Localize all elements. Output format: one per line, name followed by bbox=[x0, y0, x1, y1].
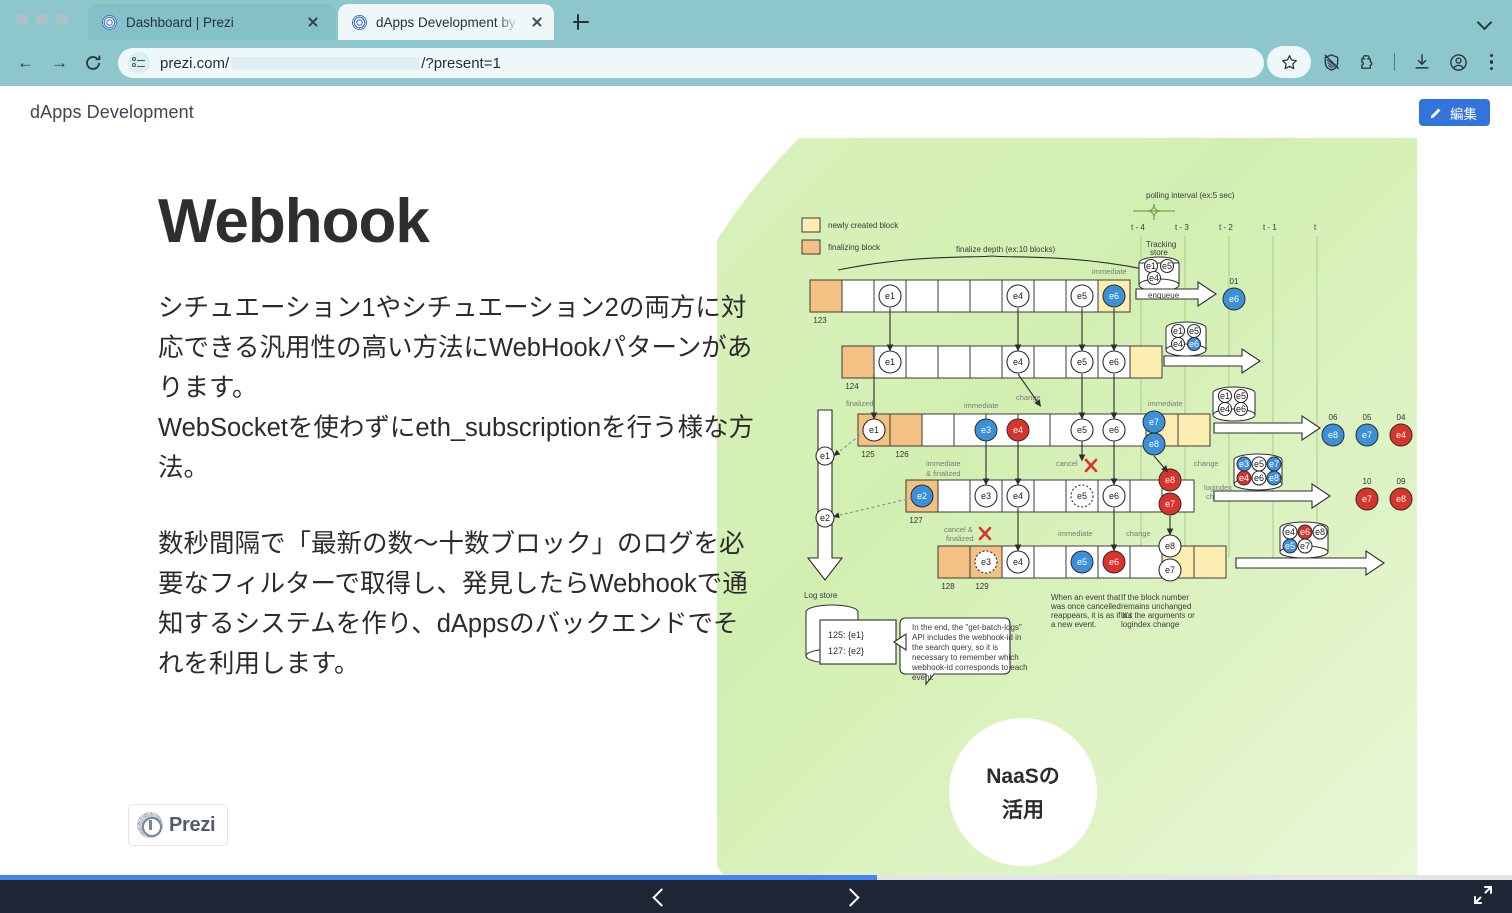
reload-button[interactable] bbox=[76, 46, 110, 80]
edit-button[interactable]: 編集 bbox=[1419, 99, 1490, 126]
svg-text:e6: e6 bbox=[1236, 404, 1246, 414]
svg-text:e1: e1 bbox=[885, 357, 895, 367]
close-tab-icon[interactable] bbox=[304, 13, 322, 31]
prezi-logo-icon bbox=[137, 812, 163, 838]
svg-text:newly created block: newly created block bbox=[828, 221, 899, 230]
svg-text:e5: e5 bbox=[1077, 291, 1087, 301]
svg-text:e8: e8 bbox=[1165, 541, 1175, 551]
tab-title: dApps Development by Hiden bbox=[376, 15, 519, 30]
svg-text:e3: e3 bbox=[1239, 459, 1249, 469]
svg-text:store: store bbox=[1150, 248, 1168, 257]
tab-dashboard-prezi[interactable]: Dashboard | Prezi bbox=[88, 4, 336, 40]
svg-text:finalized: finalized bbox=[846, 399, 874, 408]
svg-text:e8: e8 bbox=[1165, 475, 1175, 485]
svg-text:event.: event. bbox=[912, 673, 934, 682]
close-window-button[interactable] bbox=[16, 13, 28, 25]
svg-text:e1: e1 bbox=[820, 451, 830, 461]
svg-text:10: 10 bbox=[1363, 477, 1372, 486]
browser-chrome: Dashboard | Prezi dApps Development by H… bbox=[0, 0, 1512, 86]
profile-avatar-icon[interactable] bbox=[1442, 46, 1474, 78]
new-tab-button[interactable] bbox=[570, 11, 592, 33]
svg-text:e5: e5 bbox=[1077, 491, 1087, 501]
svg-text:e5: e5 bbox=[1236, 391, 1246, 401]
svg-text:124: 124 bbox=[845, 382, 859, 391]
svg-text:e5: e5 bbox=[1162, 261, 1172, 271]
svg-text:e4: e4 bbox=[1220, 404, 1230, 414]
svg-text:e5: e5 bbox=[1077, 425, 1087, 435]
svg-text:immediate: immediate bbox=[1148, 399, 1183, 408]
svg-text:immediate: immediate bbox=[1092, 267, 1127, 276]
slide-paragraph-2: 数秒間隔で「最新の数〜十数ブロック」のログを必要なフィルターで取得し、発見したら… bbox=[158, 524, 758, 684]
svg-text:immediate: immediate bbox=[1058, 529, 1093, 538]
svg-text:cancel &: cancel & bbox=[944, 525, 973, 534]
svg-text:was once cancelled: was once cancelled bbox=[1050, 602, 1121, 611]
svg-text:e3: e3 bbox=[981, 491, 991, 501]
presentation-player-bar bbox=[0, 880, 1512, 913]
svg-text:If the block number: If the block number bbox=[1121, 593, 1189, 602]
svg-text:e1: e1 bbox=[1146, 261, 1156, 271]
svg-text:125: {e1}: 125: {e1} bbox=[828, 630, 864, 640]
svg-text:e7: e7 bbox=[1165, 499, 1175, 509]
svg-text:e5: e5 bbox=[1189, 326, 1199, 336]
expand-fullscreen-icon[interactable] bbox=[1472, 884, 1498, 910]
previous-slide-button[interactable] bbox=[642, 884, 676, 910]
svg-text:e6: e6 bbox=[1109, 491, 1119, 501]
svg-text:126: 126 bbox=[895, 450, 909, 459]
svg-text:webhook-id corresponds to each: webhook-id corresponds to each bbox=[911, 663, 1028, 672]
svg-text:e8: e8 bbox=[1396, 494, 1406, 504]
svg-text:e4: e4 bbox=[1013, 425, 1023, 435]
chevron-down-icon[interactable] bbox=[1472, 8, 1498, 32]
svg-text:but the arguments or: but the arguments or bbox=[1121, 611, 1195, 620]
svg-text:09: 09 bbox=[1397, 477, 1406, 486]
address-bar[interactable]: prezi.com/ /?present=1 bbox=[118, 48, 1264, 78]
naas-label-line1: NaaSの bbox=[986, 760, 1060, 790]
svg-text:t - 4: t - 4 bbox=[1131, 223, 1145, 232]
svg-text:128: 128 bbox=[941, 582, 955, 591]
diagram-svg: .bx{fill:#fff;stroke:#3b3b3b;stroke-widt… bbox=[796, 188, 1417, 688]
prezi-favicon-icon bbox=[102, 15, 117, 30]
svg-text:t - 3: t - 3 bbox=[1175, 223, 1189, 232]
url-suffix: /?present=1 bbox=[421, 55, 501, 72]
svg-text:e3: e3 bbox=[981, 557, 991, 567]
svg-text:t: t bbox=[1314, 223, 1317, 232]
naas-label-line2: 活用 bbox=[1002, 794, 1044, 824]
svg-text:e2: e2 bbox=[820, 513, 830, 523]
maximize-window-button[interactable] bbox=[56, 13, 68, 25]
svg-text:123: 123 bbox=[813, 316, 827, 325]
prezi-wordmark: Prezi bbox=[169, 814, 215, 837]
svg-text:e1: e1 bbox=[869, 425, 879, 435]
svg-text:e4: e4 bbox=[1013, 557, 1023, 567]
svg-text:e5: e5 bbox=[1285, 541, 1295, 551]
browser-menu-kebab-icon[interactable] bbox=[1478, 46, 1504, 78]
tab-strip: Dashboard | Prezi dApps Development by H… bbox=[0, 0, 1512, 40]
svg-text:reappears, it is as if it's: reappears, it is as if it's bbox=[1051, 611, 1132, 620]
svg-text:125: 125 bbox=[861, 450, 875, 459]
forward-arrow-icon: → bbox=[51, 57, 68, 69]
svg-text:immediate: immediate bbox=[964, 401, 999, 410]
webhook-sequence-diagram: .bx{fill:#fff;stroke:#3b3b3b;stroke-widt… bbox=[796, 188, 1417, 688]
svg-text:logindex change: logindex change bbox=[1121, 620, 1180, 629]
url-text: prezi.com/ /?present=1 bbox=[160, 55, 501, 72]
svg-text:e3: e3 bbox=[981, 425, 991, 435]
svg-text:e1: e1 bbox=[885, 291, 895, 301]
window-traffic-lights[interactable] bbox=[16, 13, 68, 25]
edit-button-label: 編集 bbox=[1450, 103, 1477, 123]
page-title: dApps Development bbox=[30, 102, 194, 123]
svg-text:cancel: cancel bbox=[1056, 459, 1078, 468]
downloads-icon[interactable] bbox=[1406, 46, 1438, 78]
svg-text:127: 127 bbox=[909, 516, 923, 525]
svg-text:06: 06 bbox=[1329, 413, 1338, 422]
svg-text:e7: e7 bbox=[1149, 417, 1159, 427]
svg-text:change: change bbox=[1126, 529, 1151, 538]
svg-text:05: 05 bbox=[1363, 413, 1372, 422]
svg-text:e7: e7 bbox=[1362, 430, 1372, 440]
svg-text:immediate: immediate bbox=[926, 459, 961, 468]
svg-text:e7: e7 bbox=[1165, 565, 1175, 575]
svg-text:e6: e6 bbox=[1109, 425, 1119, 435]
svg-text:e5: e5 bbox=[1077, 357, 1087, 367]
svg-text:e6: e6 bbox=[1109, 557, 1119, 567]
bookmark-star-icon[interactable] bbox=[1267, 46, 1311, 78]
svg-text:e7: e7 bbox=[1300, 541, 1310, 551]
svg-text:129: 129 bbox=[975, 582, 989, 591]
svg-text:e8: e8 bbox=[1269, 473, 1279, 483]
svg-text:e5: e5 bbox=[1077, 557, 1087, 567]
svg-text:necessary to remember which: necessary to remember which bbox=[912, 653, 1019, 662]
svg-text:e1: e1 bbox=[1220, 391, 1230, 401]
svg-text:In the end, the "get-batch-log: In the end, the "get-batch-logs" bbox=[912, 623, 1022, 632]
svg-text:remains unchanged: remains unchanged bbox=[1121, 602, 1191, 611]
svg-text:e4: e4 bbox=[1013, 491, 1023, 501]
svg-text:e6: e6 bbox=[1254, 473, 1264, 483]
browser-toolbar-icons bbox=[1267, 46, 1504, 78]
svg-text:e7: e7 bbox=[1269, 459, 1279, 469]
slide-headline: Webhook bbox=[158, 186, 429, 257]
tab-title: Dashboard | Prezi bbox=[126, 15, 328, 30]
svg-text:t - 1: t - 1 bbox=[1263, 223, 1277, 232]
svg-text:e4: e4 bbox=[1239, 473, 1249, 483]
svg-text:e6: e6 bbox=[1300, 527, 1310, 537]
svg-text:change: change bbox=[1194, 459, 1219, 468]
svg-text:e4: e4 bbox=[1396, 430, 1406, 440]
next-slide-button[interactable] bbox=[836, 884, 870, 910]
svg-text:polling interval (ex:5 sec): polling interval (ex:5 sec) bbox=[1146, 191, 1235, 200]
url-redacted-segment bbox=[231, 57, 419, 70]
svg-text:01: 01 bbox=[1230, 277, 1239, 286]
svg-text:e4: e4 bbox=[1285, 527, 1295, 537]
pencil-icon bbox=[1430, 106, 1443, 119]
tab-dapps-development[interactable]: dApps Development by Hiden bbox=[338, 4, 554, 40]
svg-text:e4: e4 bbox=[1013, 357, 1023, 367]
svg-text:e8: e8 bbox=[1315, 527, 1325, 537]
reload-icon bbox=[84, 54, 102, 72]
svg-text:finalize depth (ex:10 blocks): finalize depth (ex:10 blocks) bbox=[956, 245, 1056, 254]
prezi-logo-badge[interactable]: Prezi bbox=[128, 804, 228, 846]
svg-text:e1: e1 bbox=[1173, 326, 1183, 336]
svg-text:Log store: Log store bbox=[804, 591, 838, 600]
toolbar-divider bbox=[1394, 53, 1395, 71]
svg-text:e8: e8 bbox=[1328, 430, 1338, 440]
svg-text:e2: e2 bbox=[917, 491, 927, 501]
svg-text:e6: e6 bbox=[1109, 291, 1119, 301]
svg-text:When an event that: When an event that bbox=[1051, 593, 1121, 602]
tracking-protection-blocked-icon[interactable] bbox=[1315, 46, 1347, 78]
site-settings-icon[interactable] bbox=[128, 52, 150, 74]
browser-window: Dashboard | Prezi dApps Development by H… bbox=[0, 0, 1512, 913]
naas-circle-label: NaaSの 活用 bbox=[949, 718, 1097, 866]
back-button[interactable]: ← bbox=[8, 46, 42, 80]
svg-text:the search query, so it is: the search query, so it is bbox=[912, 643, 998, 652]
close-tab-icon[interactable] bbox=[528, 13, 546, 31]
svg-text:e7: e7 bbox=[1362, 494, 1372, 504]
svg-text:finalizing block: finalizing block bbox=[828, 243, 881, 252]
svg-text:e6: e6 bbox=[1189, 339, 1199, 349]
forward-button[interactable]: → bbox=[42, 46, 76, 80]
back-arrow-icon: ← bbox=[17, 57, 34, 69]
slide-body-text: シチュエーション1やシチュエーション2の両方に対応できる汎用性の高い方法にWeb… bbox=[158, 288, 758, 684]
extensions-puzzle-icon[interactable] bbox=[1351, 46, 1383, 78]
svg-text:finalized: finalized bbox=[946, 534, 974, 543]
svg-text:e5: e5 bbox=[1254, 459, 1264, 469]
svg-text:API includes the webhook-id in: API includes the webhook-id in bbox=[912, 633, 1021, 642]
svg-text:& finalized: & finalized bbox=[926, 469, 961, 478]
svg-text:e8: e8 bbox=[1149, 439, 1159, 449]
svg-text:t - 2: t - 2 bbox=[1219, 223, 1233, 232]
url-prefix: prezi.com/ bbox=[160, 55, 229, 72]
slide-canvas: Webhook シチュエーション1やシチュエーション2の両方に対応できる汎用性の… bbox=[96, 138, 1417, 875]
svg-text:enqueue: enqueue bbox=[1148, 291, 1180, 300]
svg-text:a new event.: a new event. bbox=[1051, 620, 1096, 629]
svg-text:04: 04 bbox=[1397, 413, 1406, 422]
svg-text:e6: e6 bbox=[1109, 357, 1119, 367]
svg-text:e6: e6 bbox=[1229, 294, 1239, 304]
svg-text:e4: e4 bbox=[1013, 291, 1023, 301]
svg-text:127: {e2}: 127: {e2} bbox=[828, 646, 864, 656]
svg-text:e4: e4 bbox=[1149, 273, 1159, 283]
svg-text:e4: e4 bbox=[1173, 339, 1183, 349]
prezi-favicon-icon bbox=[352, 15, 367, 30]
slide-paragraph-1: シチュエーション1やシチュエーション2の両方に対応できる汎用性の高い方法にWeb… bbox=[158, 288, 758, 488]
minimize-window-button[interactable] bbox=[36, 13, 48, 25]
presentation-stage[interactable]: Webhook シチュエーション1やシチュエーション2の両方に対応できる汎用性の… bbox=[0, 138, 1512, 875]
prezi-header: dApps Development bbox=[0, 86, 1512, 138]
